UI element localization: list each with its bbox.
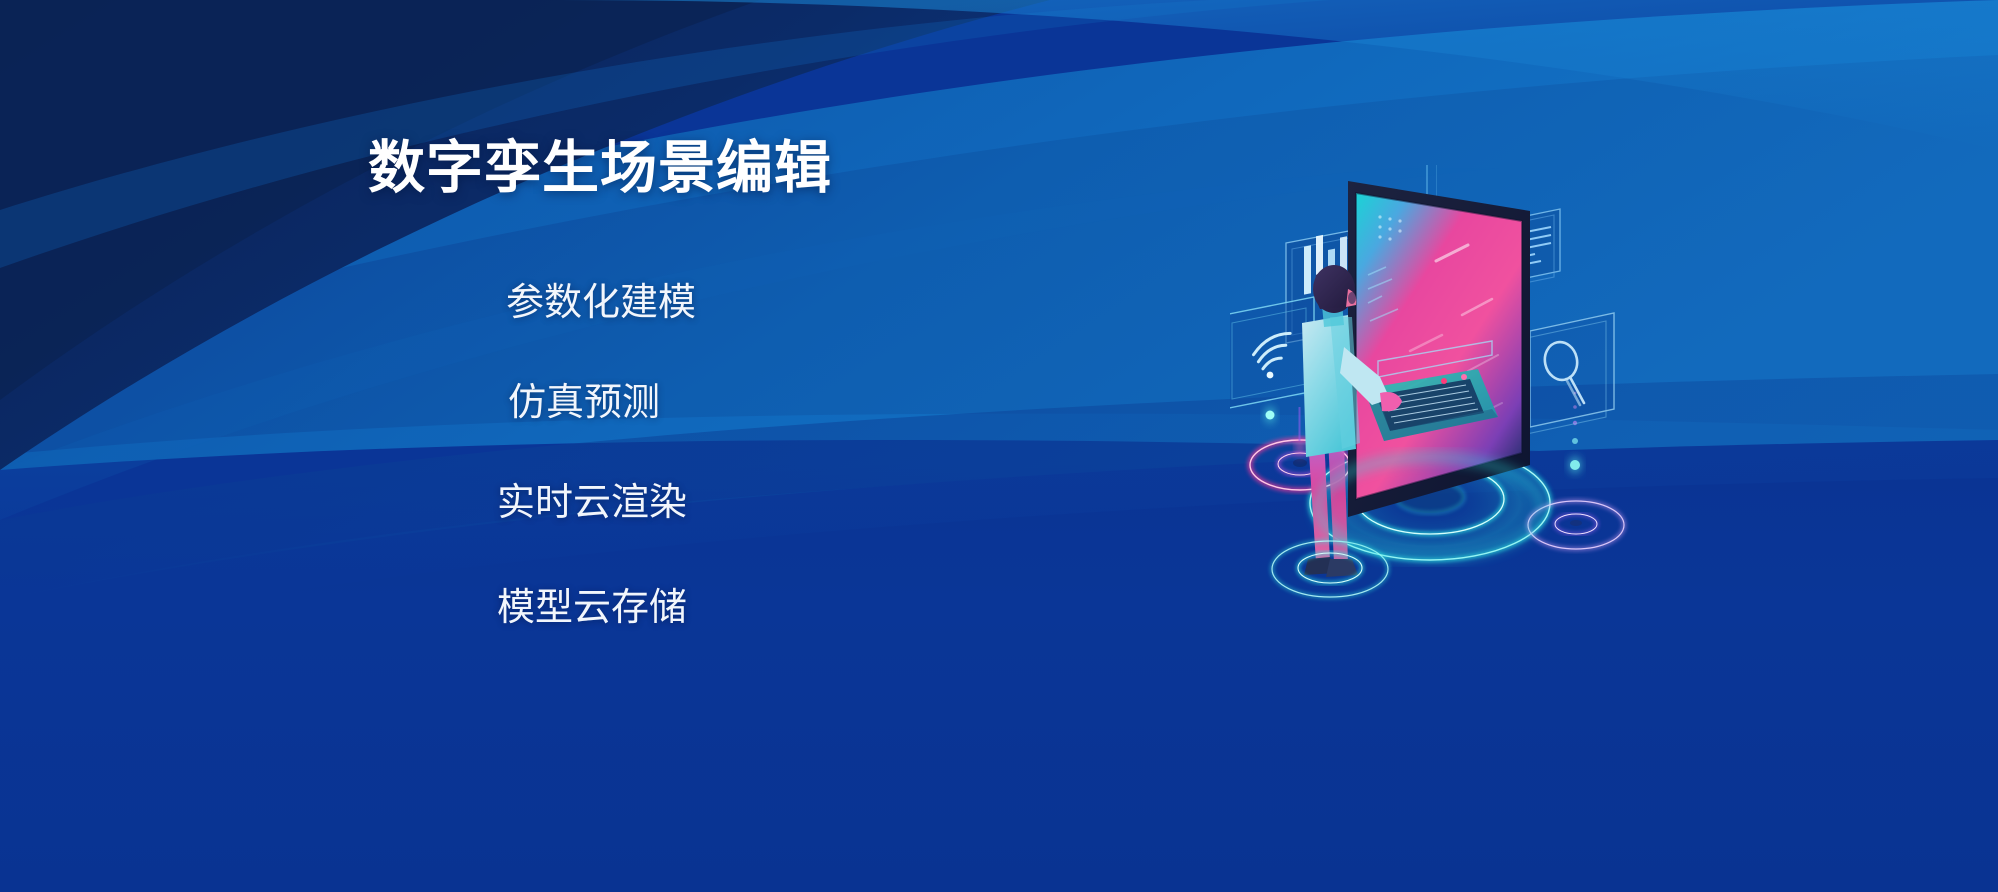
background-bottom-overlay xyxy=(0,0,1998,892)
slide-canvas: 数字孪生场景编辑 参数化建模 仿真预测 实时云渲染 模型云存储 xyxy=(0,0,1998,892)
search-card xyxy=(1522,313,1614,435)
page-title: 数字孪生场景编辑 xyxy=(368,122,832,204)
list-item: 模型云存储 xyxy=(497,588,687,626)
list-item: 实时云渲染 xyxy=(497,483,687,521)
digital-twin-illustration xyxy=(1230,165,1660,665)
list-item: 仿真预测 xyxy=(508,383,660,421)
list-item: 参数化建模 xyxy=(506,283,696,321)
wifi-card xyxy=(1230,297,1314,427)
